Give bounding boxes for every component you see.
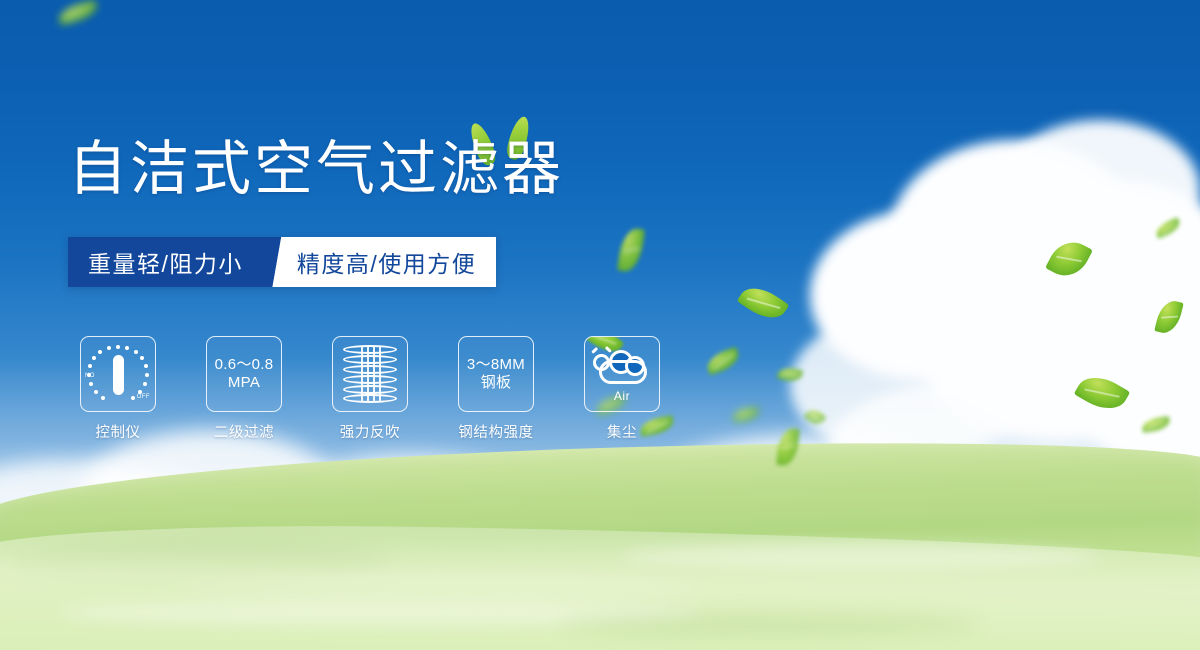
- air-cloud-icon: Air: [591, 346, 653, 402]
- product-banner: 自洁式空气过滤器 重量轻/阻力小 精度高/使用方便 NO OFF: [0, 0, 1200, 650]
- feature-icon-box: 3～8MM 钢板: [458, 336, 534, 412]
- gauge-label-off: OFF: [137, 394, 150, 400]
- steel-plate-icon: 3～8MM 钢板: [467, 356, 525, 393]
- feature-label: 集尘: [607, 421, 637, 442]
- feature-item-controller[interactable]: NO OFF: [80, 336, 156, 442]
- steel-thickness: 3～8MM: [467, 356, 525, 374]
- feature-label: 二级过滤: [214, 421, 274, 442]
- pressure-value-icon: 0.6～0.8 MPA: [215, 356, 274, 393]
- filter-stack-icon: [343, 345, 397, 403]
- feature-item-steel-strength[interactable]: 3～8MM 钢板 钢结构强度: [458, 336, 534, 442]
- feature-label: 强力反吹: [340, 421, 400, 442]
- feature-item-secondary-filter[interactable]: 0.6～0.8 MPA 二级过滤: [206, 336, 282, 442]
- feature-label: 控制仪: [95, 421, 140, 442]
- feature-item-blowback[interactable]: 强力反吹: [332, 336, 408, 442]
- subtitle-divider: [265, 237, 291, 287]
- gauge-dial-icon: NO OFF: [85, 343, 151, 405]
- pressure-unit: MPA: [215, 374, 274, 392]
- air-label: Air: [591, 389, 653, 403]
- feature-icon-box: [332, 336, 408, 412]
- subtitle-left: 重量轻/阻力小: [68, 237, 265, 287]
- feature-icon-box: 0.6～0.8 MPA: [206, 336, 282, 412]
- subtitle-bar: 重量轻/阻力小 精度高/使用方便: [68, 237, 496, 287]
- feature-item-dust-collection[interactable]: Air 集尘: [584, 336, 660, 442]
- subtitle-right: 精度高/使用方便: [291, 237, 496, 287]
- grass-shadow: [560, 612, 980, 636]
- feature-icon-box: Air: [584, 336, 660, 412]
- steel-material: 钢板: [467, 374, 525, 392]
- feature-list: NO OFF: [80, 336, 660, 442]
- page-title: 自洁式空气过滤器: [68, 140, 564, 199]
- pressure-range: 0.6～0.8: [215, 356, 274, 374]
- feature-label: 钢结构强度: [458, 421, 534, 442]
- feature-icon-box: NO OFF: [80, 336, 156, 412]
